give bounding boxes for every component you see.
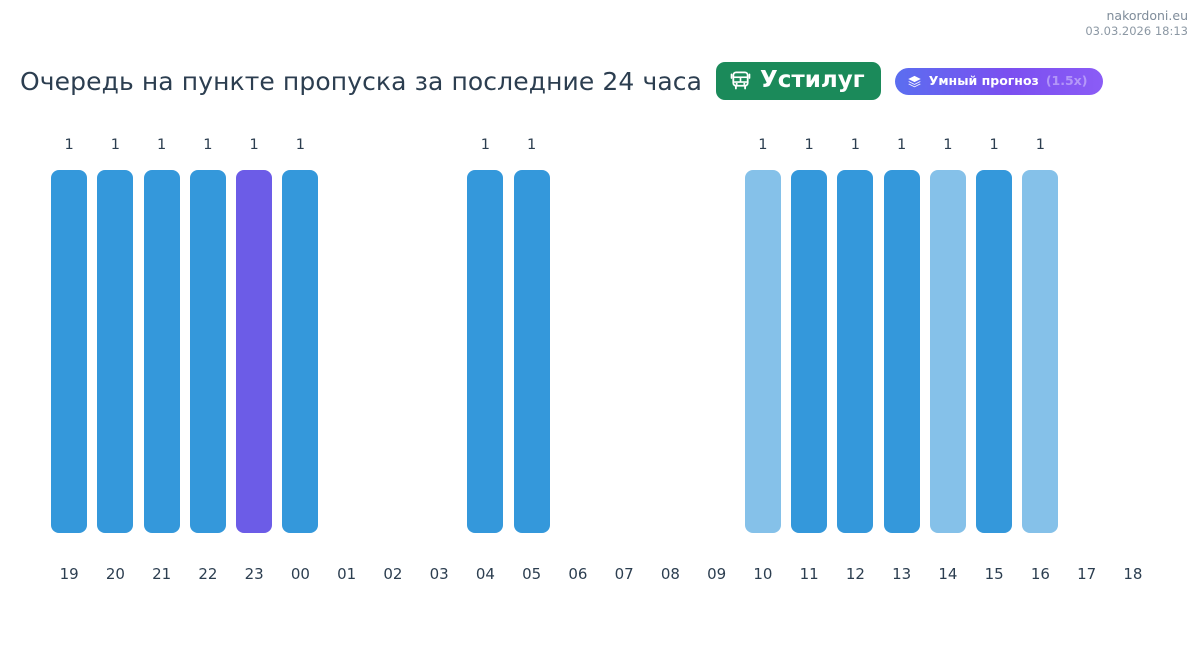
- forecast-label: Умный прогноз: [929, 75, 1039, 88]
- bar-slot-14: 114: [925, 125, 971, 595]
- x-axis-label-19: 19: [46, 565, 92, 583]
- layers-icon: [907, 74, 922, 89]
- x-axis-label-22: 22: [185, 565, 231, 583]
- bar-11[interactable]: [791, 170, 827, 533]
- x-axis-label-09: 09: [694, 565, 740, 583]
- x-axis-label-13: 13: [879, 565, 925, 583]
- bar-value-label: 1: [462, 137, 508, 153]
- forecast-multiplier: (1.5x): [1046, 75, 1088, 88]
- bar-value-label: 1: [46, 137, 92, 153]
- bar-slot-08: 08: [647, 125, 693, 595]
- page-title: Очередь на пункте пропуска за последние …: [20, 67, 702, 96]
- bar-value-label: 1: [740, 137, 786, 153]
- x-axis-label-00: 00: [277, 565, 323, 583]
- bar-value-label: 1: [879, 137, 925, 153]
- bar-slot-00: 100: [277, 125, 323, 595]
- x-axis-label-18: 18: [1110, 565, 1156, 583]
- bar-value-label: 1: [786, 137, 832, 153]
- bar-slot-17: 17: [1064, 125, 1110, 595]
- smart-forecast-badge[interactable]: Умный прогноз (1.5x): [895, 68, 1104, 95]
- bar-slot-16: 116: [1017, 125, 1063, 595]
- x-axis-label-04: 04: [462, 565, 508, 583]
- bar-value-label: 1: [139, 137, 185, 153]
- bar-slot-02: 02: [370, 125, 416, 595]
- bar-slot-07: 07: [601, 125, 647, 595]
- bar-19[interactable]: [51, 170, 87, 533]
- x-axis-label-20: 20: [92, 565, 138, 583]
- bar-04[interactable]: [467, 170, 503, 533]
- x-axis-label-08: 08: [647, 565, 693, 583]
- site-name: nakordoni.eu: [1085, 8, 1188, 24]
- x-axis-label-15: 15: [971, 565, 1017, 583]
- x-axis-label-14: 14: [925, 565, 971, 583]
- x-axis-label-03: 03: [416, 565, 462, 583]
- x-axis-label-16: 16: [1017, 565, 1063, 583]
- bar-slot-05: 105: [509, 125, 555, 595]
- bar-slot-01: 01: [324, 125, 370, 595]
- bar-20[interactable]: [97, 170, 133, 533]
- x-axis-label-12: 12: [832, 565, 878, 583]
- bar-22[interactable]: [190, 170, 226, 533]
- bar-14[interactable]: [930, 170, 966, 533]
- meta-block: nakordoni.eu 03.03.2026 18:13: [1085, 8, 1188, 38]
- bar-value-label: 1: [1017, 137, 1063, 153]
- bar-slot-12: 112: [832, 125, 878, 595]
- bar-12[interactable]: [837, 170, 873, 533]
- x-axis-label-01: 01: [324, 565, 370, 583]
- x-axis-label-05: 05: [509, 565, 555, 583]
- bar-slot-23: 123: [231, 125, 277, 595]
- x-axis-label-11: 11: [786, 565, 832, 583]
- bar-slot-13: 113: [879, 125, 925, 595]
- header-row: Очередь на пункте пропуска за последние …: [20, 58, 1190, 104]
- bus-icon: [729, 69, 752, 92]
- x-axis-label-21: 21: [139, 565, 185, 583]
- x-axis-label-23: 23: [231, 565, 277, 583]
- x-axis-label-10: 10: [740, 565, 786, 583]
- bar-slot-10: 110: [740, 125, 786, 595]
- bar-value-label: 1: [925, 137, 971, 153]
- bar-slot-18: 18: [1110, 125, 1156, 595]
- bar-value-label: 1: [185, 137, 231, 153]
- bar-slot-19: 119: [46, 125, 92, 595]
- bar-05[interactable]: [514, 170, 550, 533]
- bar-slot-15: 115: [971, 125, 1017, 595]
- bar-23[interactable]: [236, 170, 272, 533]
- bar-10[interactable]: [745, 170, 781, 533]
- bar-value-label: 1: [277, 137, 323, 153]
- bar-15[interactable]: [976, 170, 1012, 533]
- bar-slot-06: 06: [555, 125, 601, 595]
- bar-00[interactable]: [282, 170, 318, 533]
- bar-value-label: 1: [509, 137, 555, 153]
- bar-slot-11: 111: [786, 125, 832, 595]
- checkpoint-label: Устилуг: [760, 69, 865, 92]
- queue-bar-chart: 1191201211221231000102031041050607080911…: [0, 125, 1200, 595]
- bar-value-label: 1: [92, 137, 138, 153]
- x-axis-label-07: 07: [601, 565, 647, 583]
- bar-slot-09: 09: [694, 125, 740, 595]
- checkpoint-badge[interactable]: Устилуг: [716, 62, 881, 100]
- bar-16[interactable]: [1022, 170, 1058, 533]
- x-axis-label-17: 17: [1064, 565, 1110, 583]
- bar-value-label: 1: [832, 137, 878, 153]
- bar-21[interactable]: [144, 170, 180, 533]
- bar-value-label: 1: [231, 137, 277, 153]
- bar-slot-20: 120: [92, 125, 138, 595]
- bar-value-label: 1: [971, 137, 1017, 153]
- bar-13[interactable]: [884, 170, 920, 533]
- bar-slot-21: 121: [139, 125, 185, 595]
- timestamp: 03.03.2026 18:13: [1085, 24, 1188, 38]
- x-axis-label-02: 02: [370, 565, 416, 583]
- bar-slot-03: 03: [416, 125, 462, 595]
- bar-slot-04: 104: [462, 125, 508, 595]
- bars-container: 1191201211221231000102031041050607080911…: [46, 125, 1156, 595]
- bar-slot-22: 122: [185, 125, 231, 595]
- x-axis-label-06: 06: [555, 565, 601, 583]
